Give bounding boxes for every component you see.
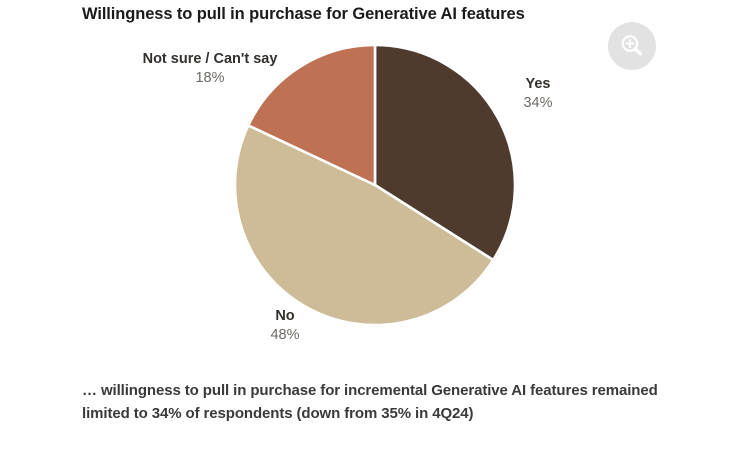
page-title: Willingness to pull in purchase for Gene…	[82, 4, 642, 25]
slice-label-not-sure: Not sure / Can't say 18%	[110, 50, 310, 87]
magnifier-plus-icon	[617, 31, 647, 61]
zoom-in-button[interactable]	[608, 22, 656, 70]
slice-label-no-name: No	[205, 307, 365, 325]
slice-label-yes: Yes 34%	[478, 75, 598, 112]
chart-slide: Willingness to pull in purchase for Gene…	[0, 0, 744, 459]
slice-label-not-sure-value: 18%	[110, 69, 310, 87]
slice-label-not-sure-name: Not sure / Can't say	[110, 50, 310, 68]
slice-label-no: No 48%	[205, 307, 365, 344]
chart-caption: … willingness to pull in purchase for in…	[82, 380, 692, 426]
slice-label-yes-value: 34%	[478, 94, 598, 112]
slice-label-yes-name: Yes	[478, 75, 598, 93]
slice-label-no-value: 48%	[205, 326, 365, 344]
